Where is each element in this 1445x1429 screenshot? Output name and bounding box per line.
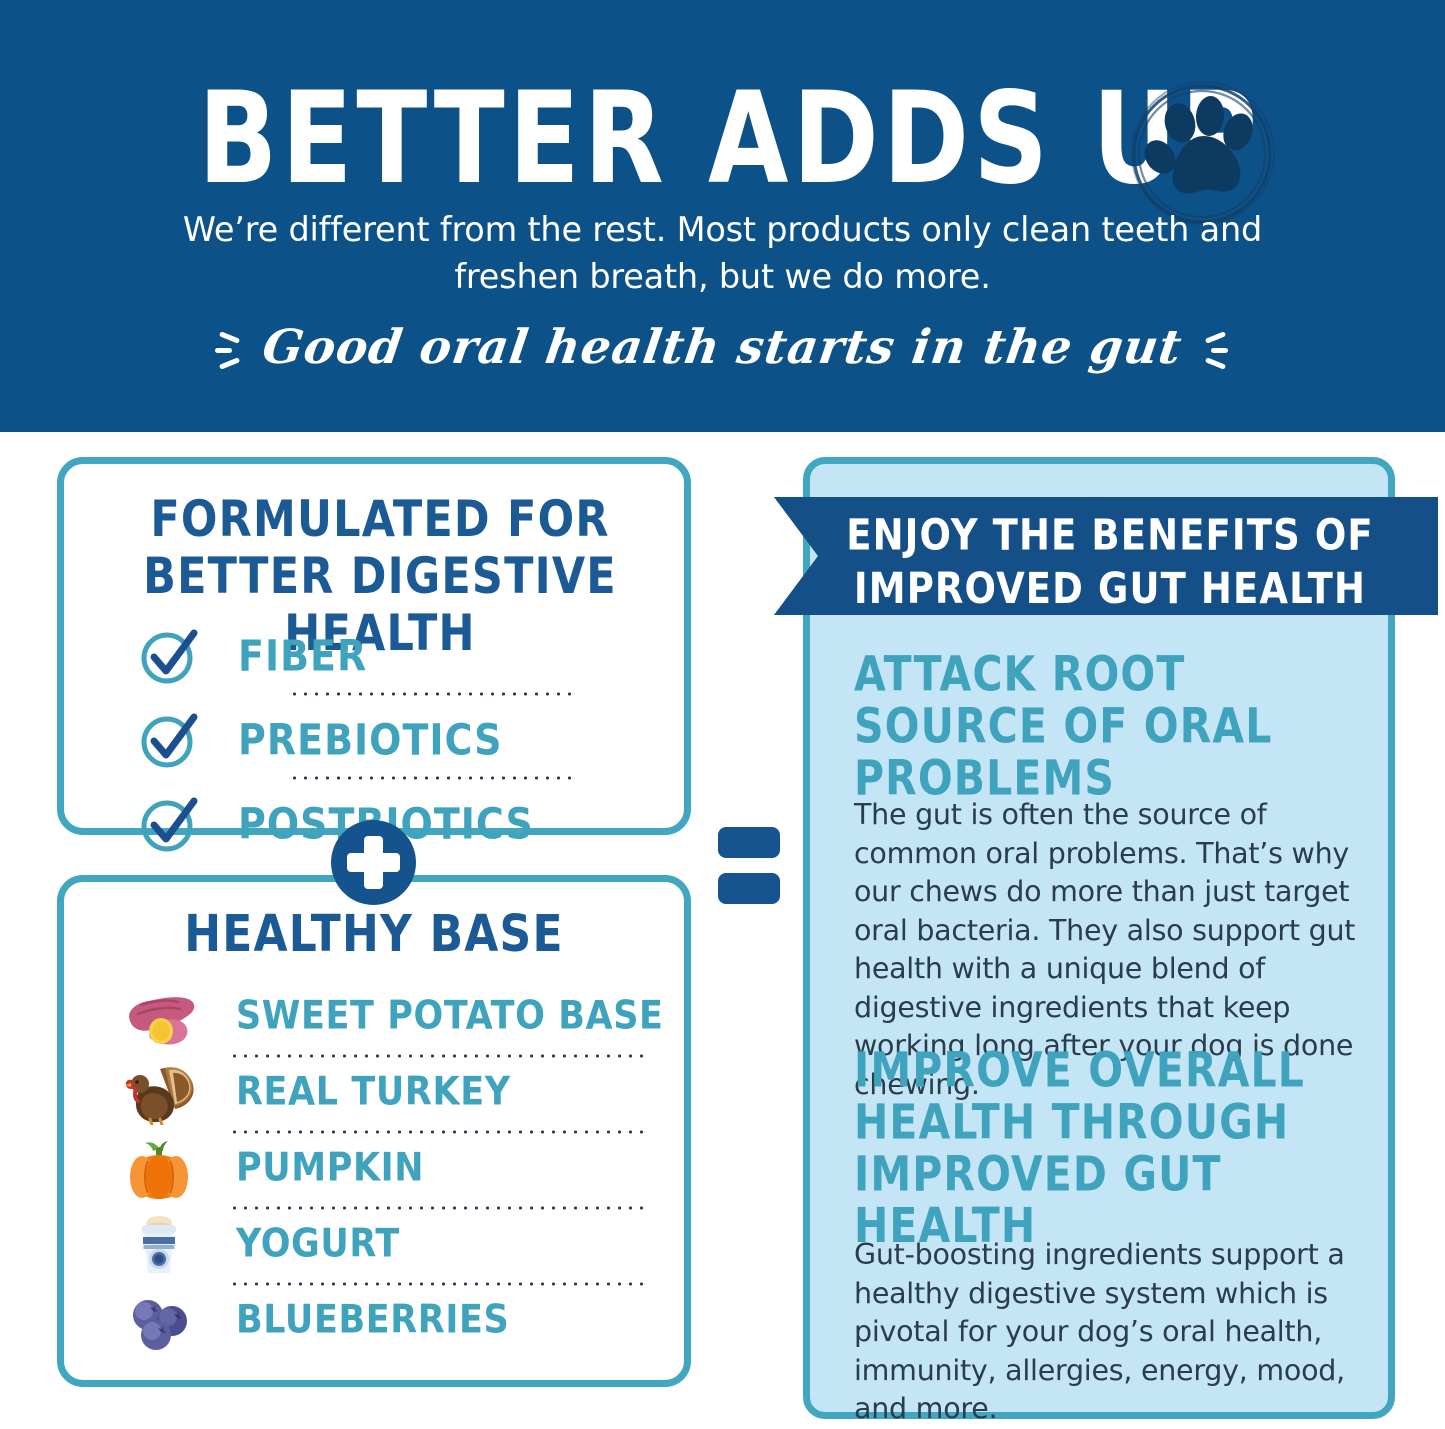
header-script-tagline: Good oral health starts in the gut: [0, 320, 1445, 375]
list-item-label: YOGURT: [236, 1221, 400, 1266]
list-item: REAL TURKEY: [64, 1054, 684, 1130]
sweet-potato-icon: [120, 983, 198, 1049]
content-area: FORMULATED FOR BETTER DIGESTIVE HEALTH F…: [0, 432, 1445, 1410]
list-item-label: BLUEBERRIES: [236, 1297, 509, 1342]
dash-flourish-right: [1198, 331, 1232, 371]
benefit-section: ATTACK ROOT SOURCE OF ORAL PROBLEMS The …: [854, 648, 1374, 1104]
plus-icon: [331, 820, 416, 905]
turkey-icon: [120, 1059, 198, 1125]
list-item-label: REAL TURKEY: [236, 1069, 511, 1114]
divider: [289, 776, 574, 780]
blueberries-icon: [120, 1287, 198, 1353]
benefit-section-title: IMPROVE OVERALL HEALTH THROUGH IMPROVED …: [854, 1044, 1374, 1252]
list-item-label: PREBIOTICS: [238, 715, 503, 764]
divider: [289, 692, 574, 696]
header-banner: BETTER ADDS UP We’re different from the …: [0, 0, 1445, 432]
dash-flourish-left: [213, 331, 247, 371]
script-tagline-text: Good oral health starts in the gut: [243, 320, 1201, 375]
header-subtitle: We’re different from the rest. Most prod…: [140, 206, 1305, 300]
list-item-label: SWEET POTATO BASE: [236, 993, 664, 1038]
pumpkin-icon: [120, 1135, 198, 1201]
benefits-ribbon: ENJOY THE BENEFITS OF IMPROVED GUT HEALT…: [774, 497, 1438, 615]
list-item: FIBER: [64, 614, 684, 698]
healthy-base-card-title: HEALTHY BASE: [64, 906, 684, 963]
list-item: SWEET POTATO BASE: [64, 978, 684, 1054]
benefits-card: ENJOY THE BENEFITS OF IMPROVED GUT HEALT…: [803, 457, 1395, 1419]
circle-check-icon: [138, 793, 200, 855]
list-item-label: PUMPKIN: [236, 1145, 424, 1190]
ingredient-list: SWEET POTATO BASE: [64, 978, 684, 1358]
list-item-label: FIBER: [238, 631, 367, 680]
list-item: PREBIOTICS: [64, 698, 684, 782]
benefit-section: IMPROVE OVERALL HEALTH THROUGH IMPROVED …: [854, 1044, 1374, 1429]
circle-check-icon: [138, 709, 200, 771]
benefit-section-title: ATTACK ROOT SOURCE OF ORAL PROBLEMS: [854, 648, 1374, 804]
yogurt-cup-icon: [120, 1211, 198, 1277]
circle-check-icon: [138, 625, 200, 687]
benefit-section-body: Gut-boosting ingredients support a healt…: [854, 1236, 1374, 1429]
list-item: PUMPKIN: [64, 1130, 684, 1206]
formulated-card: FORMULATED FOR BETTER DIGESTIVE HEALTH F…: [57, 457, 691, 835]
healthy-base-card: HEALTHY BASE SWEET POTATO BASE: [57, 875, 691, 1387]
benefits-ribbon-title: ENJOY THE BENEFITS OF IMPROVED GUT HEALT…: [774, 509, 1438, 616]
list-item: BLUEBERRIES: [64, 1282, 684, 1358]
list-item: YOGURT: [64, 1206, 684, 1282]
equals-icon: [718, 827, 780, 909]
